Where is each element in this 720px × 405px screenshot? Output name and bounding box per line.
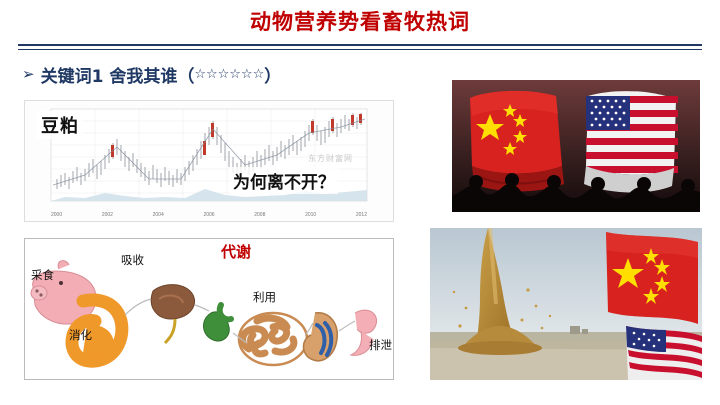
star-rating: ☆☆☆☆☆☆	[194, 67, 264, 82]
x-tick: 2000	[51, 212, 62, 218]
x-tick: 2012	[356, 212, 367, 218]
chart-overlay-label: 豆粕	[37, 111, 83, 139]
label-caishi: 采食	[31, 267, 54, 283]
flag-hands-svg	[452, 80, 700, 212]
chart-watermark: 东方财富网	[308, 153, 353, 164]
chart-x-axis: 2000 2002 2004 2006 2008 2010 2012	[25, 212, 393, 218]
x-tick: 2010	[305, 212, 316, 218]
label-liyong: 利用	[253, 289, 276, 305]
bullet-line: ➢ 关键词1 舍我其谁（ ☆☆☆☆☆☆ ）	[22, 62, 281, 87]
bullet-text: 关键词1 舍我其谁（	[41, 62, 195, 87]
title-divider-secondary	[18, 49, 702, 50]
label-xishou: 吸收	[121, 252, 144, 268]
page-title: 动物营养势看畜牧热词	[0, 6, 720, 36]
bullet-arrow-icon: ➢	[22, 67, 35, 82]
grain-pouring-china-usa-flags-photo	[430, 228, 702, 380]
x-tick: 2002	[102, 212, 113, 218]
x-tick: 2008	[254, 212, 265, 218]
label-daixie: 代谢	[221, 241, 251, 262]
bullet-close-paren: ）	[264, 62, 281, 87]
label-xiaohua: 消化	[69, 327, 92, 343]
slide-canvas: 动物营养势看畜牧热词 ➢ 关键词1 舍我其谁（ ☆☆☆☆☆☆ ）	[0, 0, 720, 405]
grain-photo-svg	[430, 228, 702, 380]
soybean-meal-price-chart: 豆粕 为何离不开？ 东方财富网 2000 2002 2004 2006 2008…	[24, 100, 394, 222]
label-paixie: 排泄	[369, 337, 392, 353]
chart-overlay-question: 为何离不开？	[230, 167, 338, 194]
china-usa-flag-hands-photo	[452, 80, 700, 212]
digestion-diagram: 采食 吸收 代谢 消化 利用 排泄	[24, 238, 394, 380]
digestion-svg	[25, 239, 393, 379]
x-tick: 2006	[203, 212, 214, 218]
x-tick: 2004	[153, 212, 164, 218]
title-divider	[18, 44, 702, 46]
